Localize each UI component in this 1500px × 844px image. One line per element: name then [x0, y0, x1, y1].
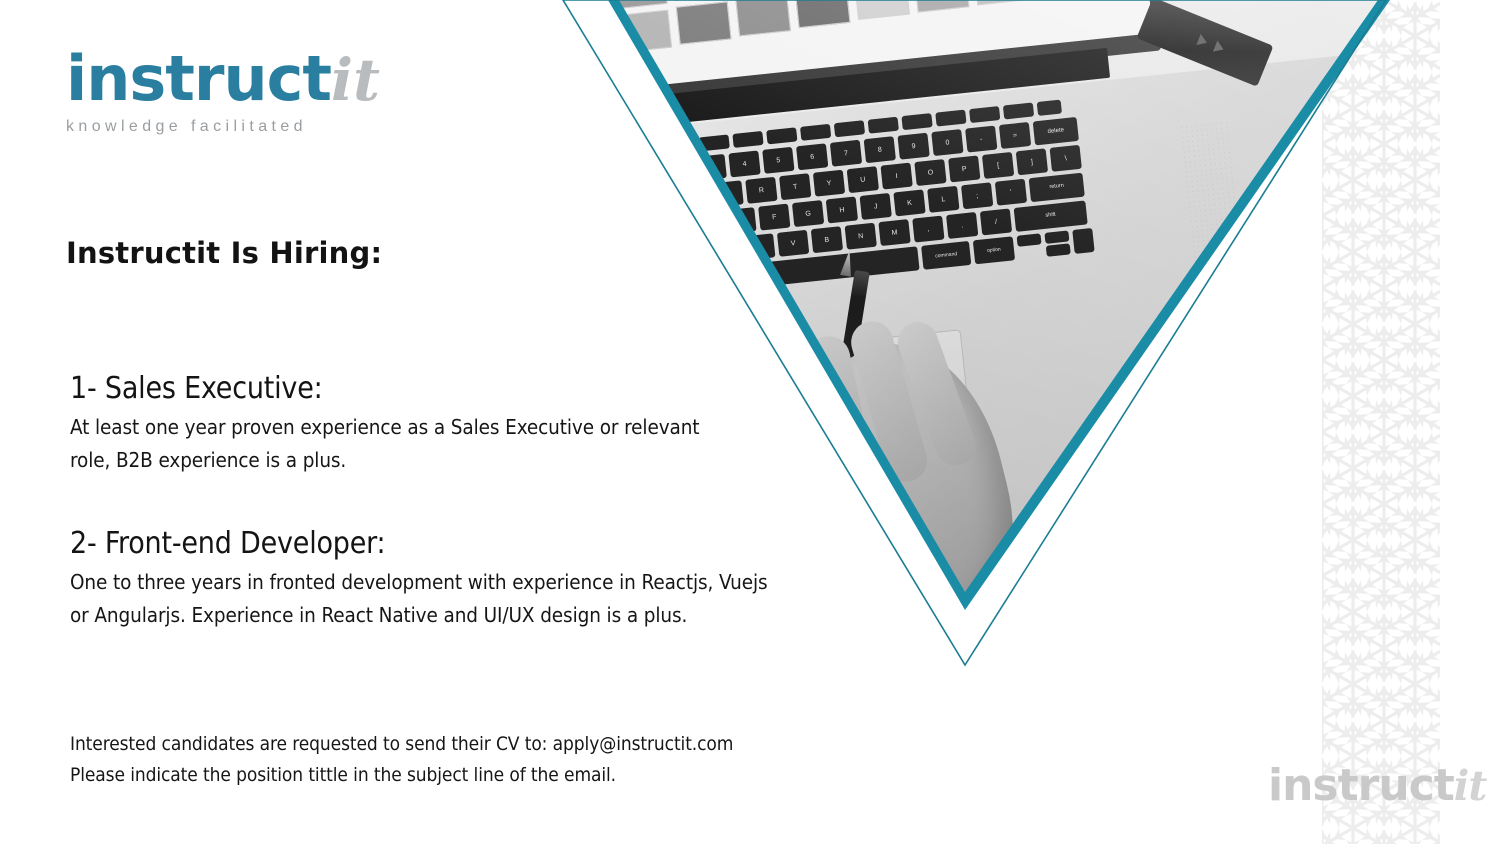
logo-it-text: it — [331, 46, 380, 114]
job-title-2: 2- Front-end Developer: — [70, 527, 768, 560]
page-title: Instructit Is Hiring: — [66, 236, 382, 270]
poster-canvas: esc ~ — [0, 0, 1500, 844]
application-instructions-line-2: Please indicate the position tittle in t… — [70, 760, 733, 791]
job-title-1: 1- Sales Executive: — [70, 372, 699, 405]
job-description-1-line-1: At least one year proven experience as a… — [70, 411, 699, 444]
watermark-word-text: instruct — [1268, 760, 1454, 811]
brand-logo: instructit knowledge facilitated — [66, 48, 380, 136]
speaker-grille-left — [540, 120, 609, 304]
logo-tagline: knowledge facilitated — [66, 118, 380, 136]
job-listing-1: 1- Sales Executive: At least one year pr… — [70, 372, 699, 477]
watermark-it-text: it — [1454, 762, 1487, 810]
watermark-logo: instructit — [1268, 764, 1486, 808]
application-instructions-line-1: Interested candidates are requested to s… — [70, 729, 733, 760]
logo-word-text: instruct — [66, 42, 331, 115]
job-description-2-line-1: One to three years in fronted developmen… — [70, 566, 768, 599]
job-description-2: One to three years in fronted developmen… — [70, 566, 768, 632]
watermark-wordmark: instructit — [1268, 764, 1486, 808]
job-description-1: At least one year proven experience as a… — [70, 411, 699, 477]
job-description-2-line-2: or Angularjs. Experience in React Native… — [70, 599, 768, 632]
job-listing-2: 2- Front-end Developer: One to three yea… — [70, 527, 768, 632]
logo-wordmark: instructit — [66, 48, 380, 110]
application-instructions: Interested candidates are requested to s… — [70, 729, 733, 792]
job-description-1-line-2: role, B2B experience is a plus. — [70, 444, 699, 477]
